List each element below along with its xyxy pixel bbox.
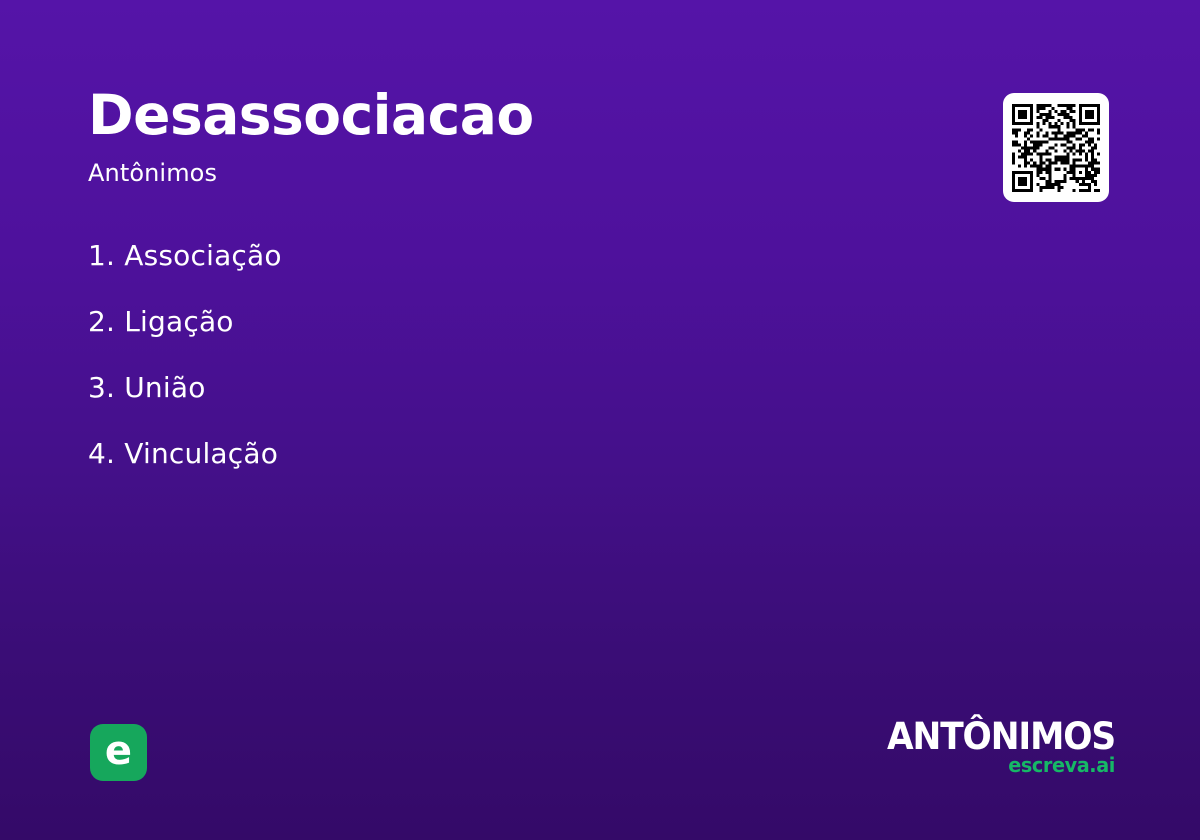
list-item: 3. União: [88, 368, 908, 434]
list-item-word: União: [124, 371, 205, 404]
qr-code-icon[interactable]: [1012, 104, 1100, 192]
list-item: 4. Vinculação: [88, 434, 908, 500]
list-item-number: 3.: [88, 371, 115, 404]
list-item-number: 4.: [88, 437, 115, 470]
antonym-list: 1. Associação 2. Ligação 3. União 4. Vin…: [88, 236, 908, 500]
page-title: Desassociacao: [88, 88, 948, 143]
title-block: Desassociacao Antônimos: [88, 88, 948, 187]
page-subtitle: Antônimos: [88, 159, 948, 187]
footer-logo: ANTÔNIMOS escreva.ai: [815, 718, 1115, 776]
footer-logo-main: ANTÔNIMOS: [836, 718, 1115, 756]
antonym-card: Desassociacao Antônimos 1. Associação 2.…: [0, 0, 1200, 840]
brand-badge[interactable]: e: [90, 724, 147, 781]
list-item: 2. Ligação: [88, 302, 908, 368]
brand-badge-letter: e: [105, 731, 132, 771]
list-item-word: Vinculação: [124, 437, 278, 470]
qr-code-panel[interactable]: [1003, 93, 1109, 202]
list-item-number: 2.: [88, 305, 115, 338]
list-item-word: Associação: [124, 239, 281, 272]
list-item-word: Ligação: [124, 305, 233, 338]
list-item: 1. Associação: [88, 236, 908, 302]
footer-logo-sub: escreva.ai: [827, 754, 1115, 776]
list-item-number: 1.: [88, 239, 115, 272]
